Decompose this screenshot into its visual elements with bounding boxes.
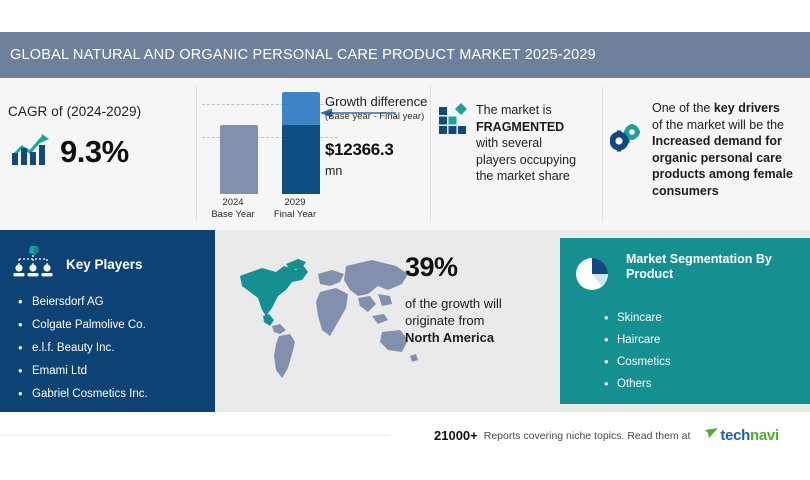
- kd-line-1-bold: key drivers: [714, 101, 780, 115]
- list-item: Beiersdorf AG: [18, 295, 205, 310]
- list-item: Haircare: [604, 333, 800, 348]
- bar-2024-caption: 2024 Base Year: [201, 197, 265, 221]
- market-segmentation-title: Market Segmentation By Product: [626, 252, 786, 282]
- infographic-page: GLOBAL NATURAL AND ORGANIC PERSONAL CARE…: [0, 0, 810, 480]
- list-item: Emami Ltd: [18, 364, 205, 379]
- frag-line-3: with several: [476, 136, 542, 150]
- world-map-north-america-highlighted: [232, 246, 432, 394]
- region-name: North America: [405, 330, 494, 345]
- cagr-block: CAGR of (2024-2029) 9.3%: [8, 104, 193, 172]
- key-players-title: Key Players: [66, 257, 143, 272]
- key-players-panel: Key Players Beiersdorf AG Colgate Palmol…: [0, 230, 215, 412]
- frag-line-4: players occupying: [476, 153, 576, 167]
- list-item: e.l.f. Beauty Inc.: [18, 341, 205, 356]
- region-sub-line-2: originate from: [405, 313, 484, 328]
- top-stats-row: CAGR of (2024-2029) 9.3%: [0, 78, 810, 230]
- divider-2: [430, 86, 431, 222]
- frag-line-5: the market share: [476, 169, 570, 183]
- list-item: Colgate Palmolive Co.: [18, 318, 205, 333]
- gears-icon: [610, 100, 644, 199]
- market-fragmentation-text: The market is FRAGMENTED with several pl…: [476, 102, 596, 185]
- market-segmentation-list: Skincare Haircare Cosmetics Others: [572, 311, 800, 392]
- frag-bold: FRAGMENTED: [476, 120, 564, 134]
- market-segmentation-panel: Market Segmentation By Product Skincare …: [560, 238, 810, 404]
- region-growth-description: of the growth will originate from North …: [405, 295, 545, 346]
- squares-diamond-cluster-icon: [438, 102, 468, 185]
- org-chart-people-icon: [12, 244, 58, 285]
- list-item: Skincare: [604, 311, 800, 326]
- bar-chart-growth-icon: [8, 131, 50, 172]
- pie-chart-icon: [572, 252, 616, 301]
- key-players-list: Beiersdorf AG Colgate Palmolive Co. e.l.…: [12, 295, 205, 402]
- region-growth-stat: 39% of the growth will originate from No…: [405, 252, 545, 346]
- list-item: Others: [604, 377, 800, 392]
- divider-1: [196, 86, 197, 222]
- footer: 21000+ Reports covering niche topics. Re…: [0, 412, 810, 480]
- kd-bold-block: Increased demand for organic personal ca…: [652, 134, 793, 198]
- footer-divider: [0, 435, 390, 436]
- bar-2029-base-segment: [282, 125, 320, 194]
- bar-2029-growth-segment: [282, 92, 320, 125]
- bar-2029-caption: 2029 Final Year: [263, 197, 327, 221]
- header-band: GLOBAL NATURAL AND ORGANIC PERSONAL CARE…: [0, 32, 810, 78]
- page-title: GLOBAL NATURAL AND ORGANIC PERSONAL CARE…: [0, 47, 596, 63]
- kd-line-2: of the market will be the: [652, 118, 784, 132]
- report-count: 21000+: [434, 428, 478, 443]
- kd-line-1-plain: One of the: [652, 101, 714, 115]
- region-share-percent: 39%: [405, 252, 545, 283]
- logo-text-part1: tech: [720, 427, 750, 444]
- divider-3: [602, 86, 603, 222]
- technavio-logo[interactable]: technavi: [704, 426, 778, 445]
- frag-line-1: The market is: [476, 103, 552, 117]
- key-drivers-text: One of the key drivers of the market wil…: [652, 100, 804, 199]
- logo-text-part2: navi: [750, 427, 779, 444]
- region-sub-line-1: of the growth will: [405, 296, 502, 311]
- key-drivers-block: One of the key drivers of the market wil…: [610, 100, 804, 199]
- market-fragmentation-block: The market is FRAGMENTED with several pl…: [438, 102, 596, 185]
- list-item: Cosmetics: [604, 355, 800, 370]
- cagr-label: CAGR of (2024-2029): [8, 104, 193, 119]
- cagr-value: 9.3%: [60, 134, 129, 170]
- technavio-arrow-icon: [704, 426, 720, 445]
- bar-2024-base: [220, 125, 258, 194]
- footer-text: Reports covering niche topics. Read them…: [484, 430, 691, 442]
- bar-2024: [220, 125, 258, 194]
- bar-2029: [282, 92, 320, 194]
- bottom-row: Key Players Beiersdorf AG Colgate Palmol…: [0, 230, 810, 412]
- list-item: Gabriel Cosmetics Inc.: [18, 387, 205, 402]
